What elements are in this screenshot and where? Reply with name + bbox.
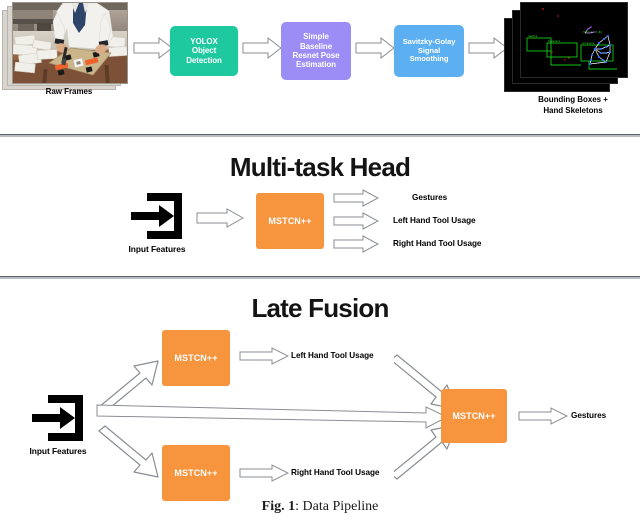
late-fusion-final-mstcn-label: MSTCN++	[452, 411, 495, 421]
late-fusion-bottom-mstcn-box[interactable]: MSTCN++	[162, 445, 230, 501]
late-fusion-top-mstcn-box[interactable]: MSTCN++	[162, 330, 230, 386]
divider-bottom	[0, 276, 640, 279]
stage-box-signal-smoothing[interactable]: Savitzky-Golay Signal Smoothing	[394, 25, 464, 77]
multitask-head-section: Multi-task Head Input Features MSTCN++ G…	[0, 140, 640, 270]
late-fusion-right-hand-label: Right Hand Tool Usage	[291, 468, 379, 477]
arrow-fusion-to-gestures	[518, 407, 568, 425]
arrow-top-mstcn-to-left-label	[239, 347, 289, 365]
late-fusion-input-icon	[30, 392, 86, 444]
input-features-icon	[129, 190, 185, 242]
late-fusion-input-label: Input Features	[10, 446, 106, 457]
raw-frame-image	[13, 3, 127, 83]
late-fusion-top-mstcn-label: MSTCN++	[174, 353, 217, 363]
arrow-raw-to-yolox	[133, 37, 173, 59]
multitask-head-title: Multi-task Head	[0, 152, 640, 183]
arrow-input-to-bottom-branch	[96, 424, 166, 486]
raw-frames-caption: Raw Frames	[12, 87, 126, 98]
output-frames-caption: 30-FPS Bounding Boxes + Hand Skeletons	[520, 84, 626, 116]
raw-frames-photo-stack: Raw Frames	[2, 2, 130, 97]
multitask-output-left-hand: Left Hand Tool Usage	[393, 216, 476, 225]
arrow-yolox-to-pose	[242, 37, 282, 59]
arrow-bottom-mstcn-to-right-label	[239, 464, 289, 482]
late-fusion-final-mstcn-box[interactable]: MSTCN++	[441, 389, 507, 443]
figure-data-pipeline: Raw Frames YOLOX Object Detection Sim	[0, 0, 640, 523]
stage-label-signal-smoothing: Savitzky-Golay Signal Smoothing	[403, 38, 456, 65]
pipeline-section: Raw Frames YOLOX Object Detection Sim	[0, 0, 640, 131]
svg-text:tweezers: tweezers	[548, 39, 561, 43]
output-frames-stack: needle tweezers scissors forceps 0.84	[504, 2, 636, 127]
figure-caption-text: : Data Pipeline	[295, 499, 378, 514]
late-fusion-left-hand-label: Left Hand Tool Usage	[291, 351, 374, 360]
figure-caption-number: Fig. 1	[262, 499, 295, 514]
late-fusion-gestures-label: Gestures	[571, 411, 606, 420]
svg-text:needle: needle	[528, 34, 538, 38]
late-fusion-section: Late Fusion Input Features MSTCN++ Left …	[0, 284, 640, 499]
detection-overlay-image: needle tweezers scissors forceps 0.84	[521, 3, 627, 77]
arrow-pose-to-smoothing	[355, 37, 395, 59]
output-front-frame: needle tweezers scissors forceps 0.84	[520, 2, 628, 78]
arrow-mstcn-to-right-hand	[333, 235, 379, 253]
photo-front-frame	[12, 2, 128, 84]
late-fusion-bottom-mstcn-label: MSTCN++	[174, 468, 217, 478]
multitask-input-label: Input Features	[109, 244, 205, 255]
multitask-output-gestures: Gestures	[412, 193, 447, 202]
arrow-mstcn-to-gestures	[333, 189, 379, 207]
stage-label-yolox: YOLOX Object Detection	[186, 37, 222, 65]
svg-text:scissors: scissors	[582, 41, 595, 45]
arrow-smoothing-to-output	[468, 37, 508, 59]
multitask-mstcn-label: MSTCN++	[268, 216, 311, 226]
divider-top	[0, 134, 640, 137]
arrow-mstcn-to-left-hand	[333, 212, 379, 230]
stage-label-pose-estimation: Simple Baseline Resnet Pose Estimation	[293, 32, 340, 70]
stage-box-pose-estimation[interactable]: Simple Baseline Resnet Pose Estimation	[281, 22, 351, 80]
figure-caption: Fig. 1: Data Pipeline	[0, 499, 640, 515]
multitask-output-right-hand: Right Hand Tool Usage	[393, 239, 481, 248]
multitask-mstcn-box[interactable]: MSTCN++	[256, 193, 324, 249]
late-fusion-title: Late Fusion	[0, 293, 640, 324]
stage-box-yolox[interactable]: YOLOX Object Detection	[170, 26, 238, 76]
arrow-input-to-mstcn	[196, 208, 244, 228]
